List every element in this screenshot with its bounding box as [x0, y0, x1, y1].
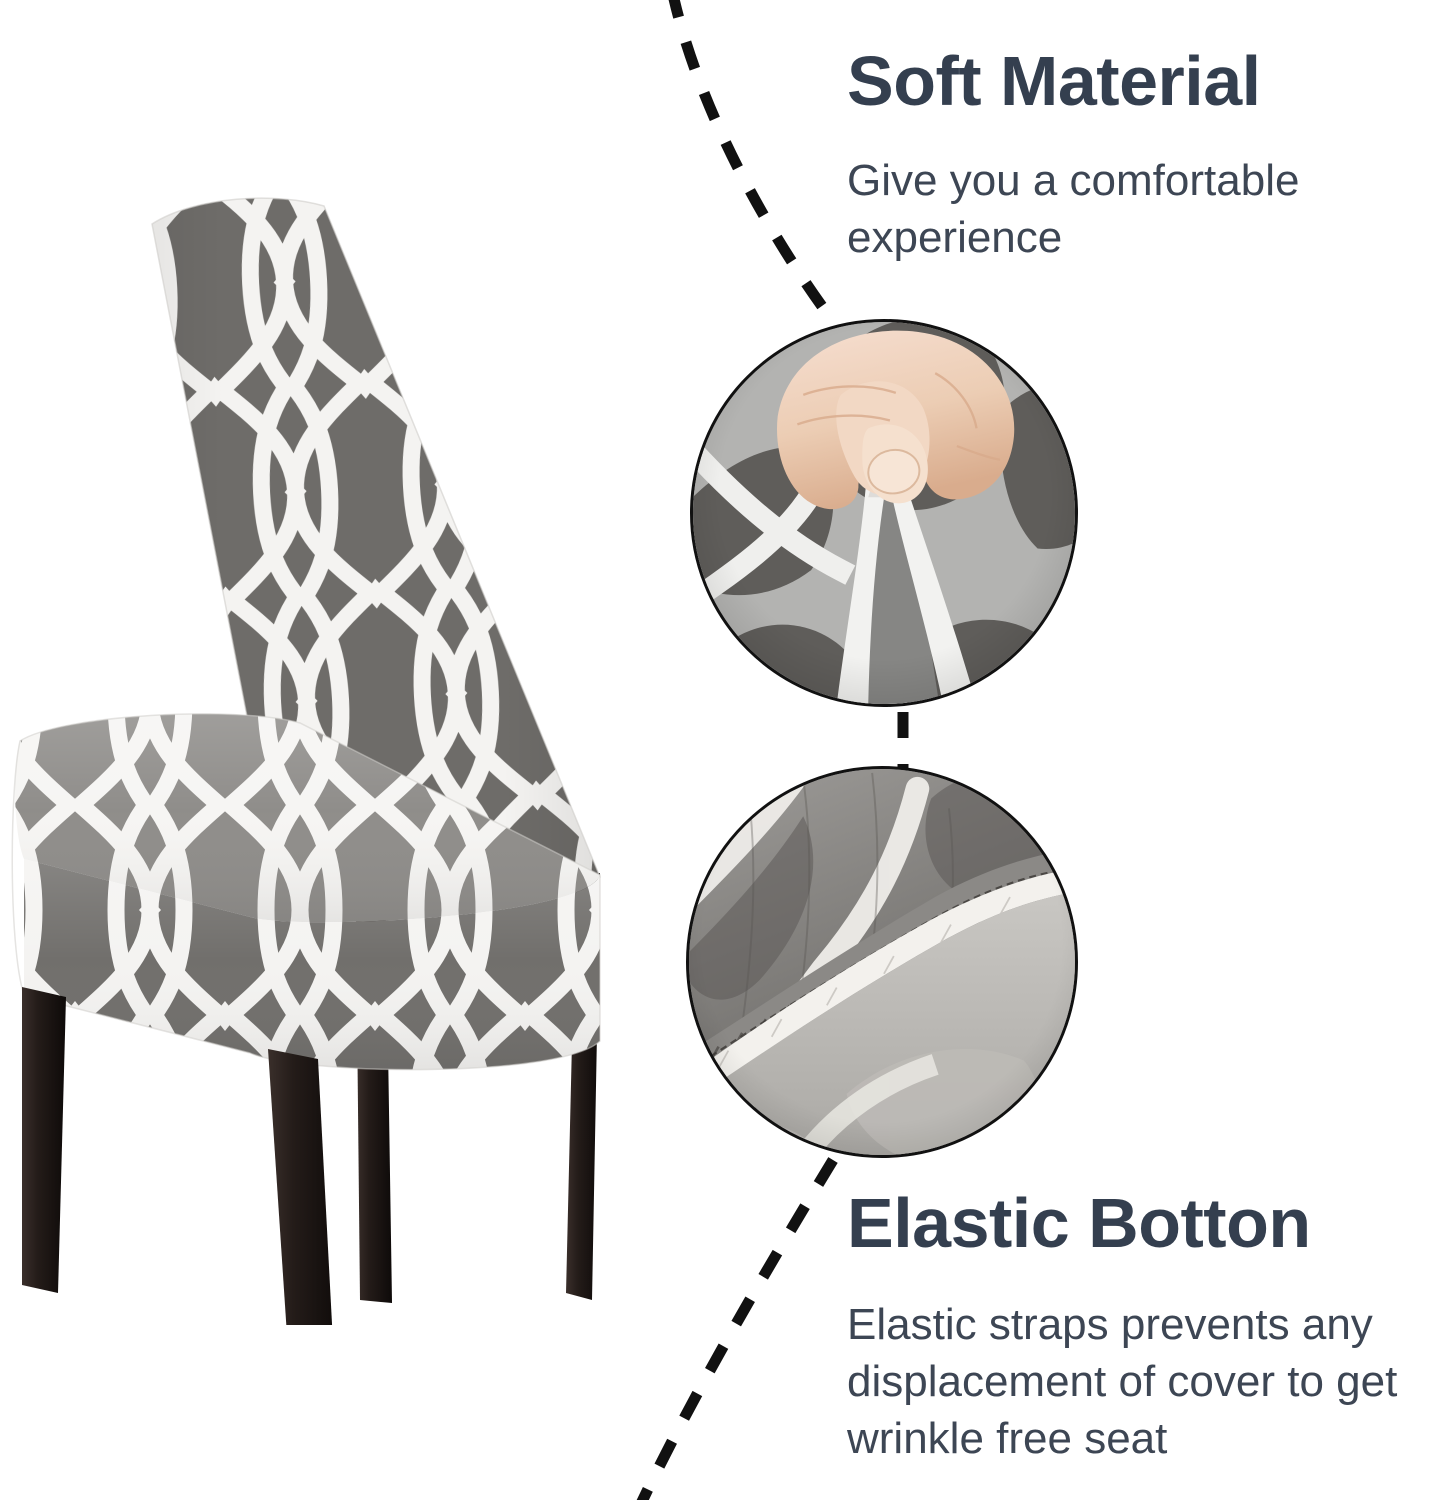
product-chair-image	[0, 175, 660, 1325]
chair-leg-front-left	[22, 987, 66, 1293]
feature-description-soft-material: Give you a comfortable experience	[847, 152, 1407, 266]
feature-block-elastic-botton: Elastic Botton Elastic straps prevents a…	[847, 1188, 1407, 1468]
feature-block-soft-material: Soft Material Give you a comfortable exp…	[847, 46, 1407, 266]
chair-leg-front-right	[268, 1049, 340, 1325]
feature-title-elastic-botton: Elastic Botton	[847, 1188, 1407, 1258]
infographic-canvas: Soft Material Give you a comfortable exp…	[0, 0, 1429, 1500]
fabric-stretch-detail-circle	[690, 319, 1078, 707]
feature-title-soft-material: Soft Material	[847, 46, 1407, 116]
feature-description-elastic-botton: Elastic straps prevents any displacement…	[847, 1296, 1407, 1468]
elastic-hem-detail-circle	[686, 766, 1078, 1158]
